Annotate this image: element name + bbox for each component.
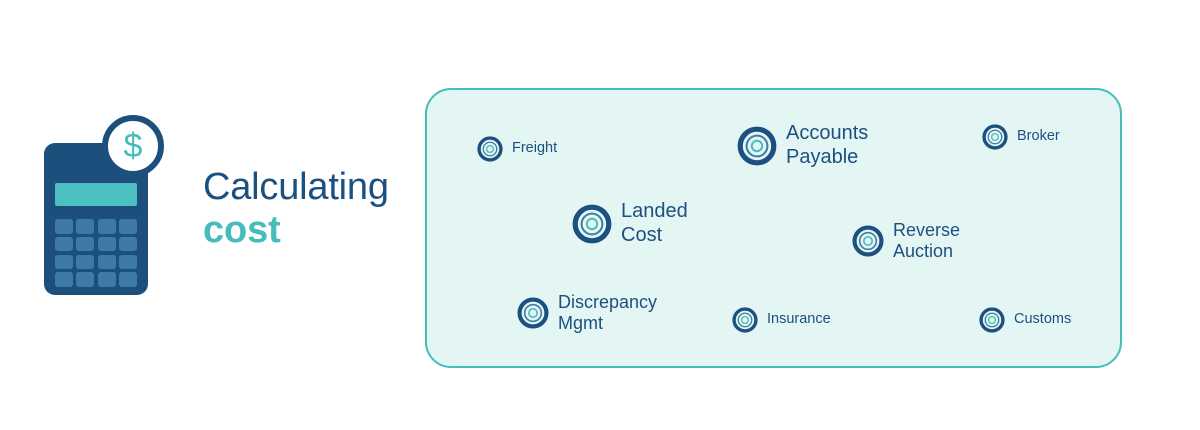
svg-text:$: $ bbox=[124, 127, 143, 165]
target-icon bbox=[979, 307, 1005, 333]
page-title: Calculating cost bbox=[203, 168, 389, 250]
target-icon bbox=[982, 124, 1008, 150]
calculator-key bbox=[55, 237, 73, 252]
calculator-key bbox=[76, 219, 94, 234]
cost-component-item[interactable]: Landed Cost bbox=[572, 200, 688, 247]
cost-component-item[interactable]: Discrepancy Mgmt bbox=[517, 292, 657, 334]
infographic-canvas: $ Calculating cost FreightAccounts Payab… bbox=[0, 0, 1200, 430]
calculator-key bbox=[55, 219, 73, 234]
hero-section: $ Calculating cost bbox=[0, 0, 420, 430]
target-icon bbox=[732, 307, 758, 333]
cost-component-item[interactable]: Broker bbox=[982, 124, 1060, 150]
cost-component-item[interactable]: Insurance bbox=[732, 307, 831, 333]
calculator-key bbox=[55, 255, 73, 270]
calculator-keypad bbox=[55, 219, 137, 287]
cost-component-item[interactable]: Customs bbox=[979, 307, 1071, 333]
calculator-key bbox=[119, 255, 137, 270]
dollar-badge-icon: $ bbox=[102, 115, 164, 177]
cost-component-label: Freight bbox=[512, 140, 557, 157]
cost-component-label: Broker bbox=[1017, 128, 1060, 145]
calculator-screen bbox=[55, 183, 137, 206]
calculator-key bbox=[119, 237, 137, 252]
cost-component-item[interactable]: Freight bbox=[477, 136, 557, 162]
cost-component-label: Reverse Auction bbox=[893, 220, 960, 262]
title-line-2: cost bbox=[203, 211, 389, 250]
cost-component-item[interactable]: Accounts Payable bbox=[737, 122, 868, 169]
target-icon bbox=[477, 136, 503, 162]
calculator-key bbox=[76, 272, 94, 287]
calculator-key bbox=[55, 272, 73, 287]
cost-components-panel: FreightAccounts PayableBrokerLanded Cost… bbox=[425, 88, 1122, 368]
cost-component-label: Landed Cost bbox=[621, 200, 688, 247]
calculator-key bbox=[98, 255, 116, 270]
cost-component-label: Accounts Payable bbox=[786, 122, 868, 169]
cost-component-label: Customs bbox=[1014, 311, 1071, 328]
target-icon bbox=[517, 297, 549, 329]
calculator-illustration: $ bbox=[44, 115, 194, 295]
calculator-key bbox=[119, 219, 137, 234]
calculator-key bbox=[98, 272, 116, 287]
cost-component-item[interactable]: Reverse Auction bbox=[852, 220, 960, 262]
calculator-key bbox=[98, 237, 116, 252]
title-line-1: Calculating bbox=[203, 168, 389, 207]
target-icon bbox=[852, 225, 884, 257]
calculator-key bbox=[119, 272, 137, 287]
calculator-key bbox=[98, 219, 116, 234]
cost-component-label: Insurance bbox=[767, 311, 831, 328]
target-icon bbox=[737, 126, 777, 166]
calculator-key bbox=[76, 255, 94, 270]
target-icon bbox=[572, 204, 612, 244]
cost-component-label: Discrepancy Mgmt bbox=[558, 292, 657, 334]
calculator-key bbox=[76, 237, 94, 252]
